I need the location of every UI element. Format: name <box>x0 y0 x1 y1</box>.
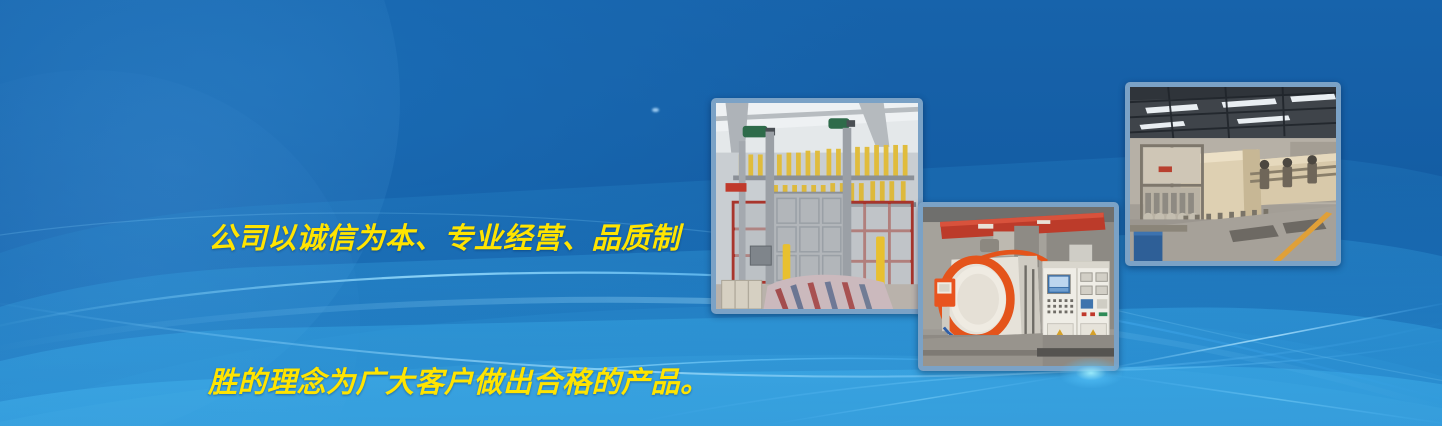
photo-vacuum-furnace-image <box>923 207 1114 366</box>
headline-line-2: 胜的理念为广大客户做出合格的产品。 <box>208 358 728 406</box>
light-sparkle-icon <box>652 108 659 112</box>
headline-line-1: 公司以诚信为本、专业经营、品质制 <box>208 214 728 262</box>
photo-continuous-furnace-image <box>1130 87 1336 261</box>
company-promo-banner: 公司以诚信为本、专业经营、品质制 胜的理念为广大客户做出合格的产品。 主要产品：… <box>0 0 1442 426</box>
photo-continuous-furnace[interactable] <box>1125 82 1341 266</box>
photo-furnace-line-front-image <box>716 103 918 309</box>
photo-vacuum-furnace[interactable] <box>918 202 1119 371</box>
promo-headline: 公司以诚信为本、专业经营、品质制 胜的理念为广大客户做出合格的产品。 主要产品：… <box>208 118 728 426</box>
photo-furnace-line-front[interactable] <box>711 98 923 314</box>
